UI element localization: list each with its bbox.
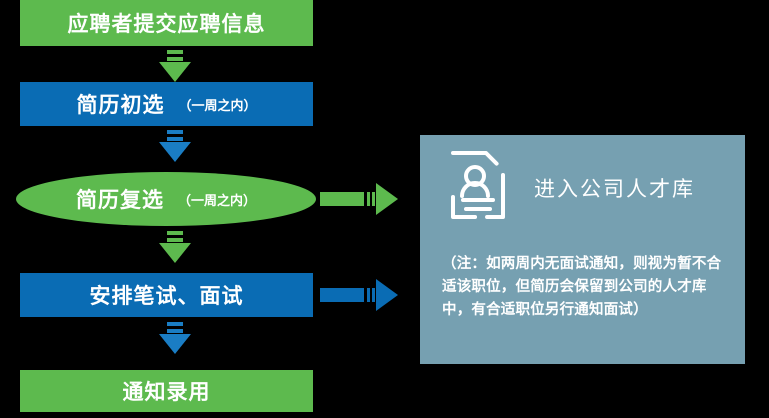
step-resume-review-sublabel: （一周之内）	[178, 190, 256, 209]
step-submit-application[interactable]: 应聘者提交应聘信息	[20, 0, 313, 46]
step-notify-hire[interactable]: 通知录用	[20, 370, 313, 412]
step-notify-hire-label: 通知录用	[123, 376, 211, 406]
step-exam-and-interview[interactable]: 安排笔试、面试	[20, 273, 313, 317]
resume-person-document-icon	[448, 149, 508, 226]
connector-down-blue-1	[150, 130, 200, 160]
step-resume-review[interactable]: 简历复选 （一周之内）	[16, 172, 316, 226]
talent-pool-title: 进入公司人才库	[534, 173, 695, 203]
step-resume-review-label: 简历复选	[76, 184, 164, 214]
connector-down-green-2	[150, 231, 200, 261]
step-exam-and-interview-label: 安排笔试、面试	[90, 280, 244, 310]
step-resume-screening-sublabel: （一周之内）	[178, 95, 256, 114]
flowchart-canvas: 应聘者提交应聘信息 简历初选 （一周之内） 简历复选 （一周之内）	[0, 0, 769, 418]
connector-down-blue-2	[150, 322, 200, 352]
talent-pool-note: （注：如两周内无面试通知，则视为暂不合适该职位，但简历会保留到公司的人才库中，有…	[442, 253, 732, 322]
talent-pool-panel[interactable]: 进入公司人才库 （注：如两周内无面试通知，则视为暂不合适该职位，但简历会保留到公…	[420, 135, 745, 364]
step-resume-screening[interactable]: 简历初选 （一周之内）	[20, 82, 313, 126]
talent-pool-header: 进入公司人才库	[448, 149, 695, 226]
connector-down-green-1	[150, 50, 200, 80]
connector-right-blue	[320, 279, 398, 311]
step-resume-screening-label: 简历初选	[76, 89, 164, 119]
step-submit-application-label: 应聘者提交应聘信息	[68, 8, 266, 38]
connector-right-green	[320, 183, 398, 215]
